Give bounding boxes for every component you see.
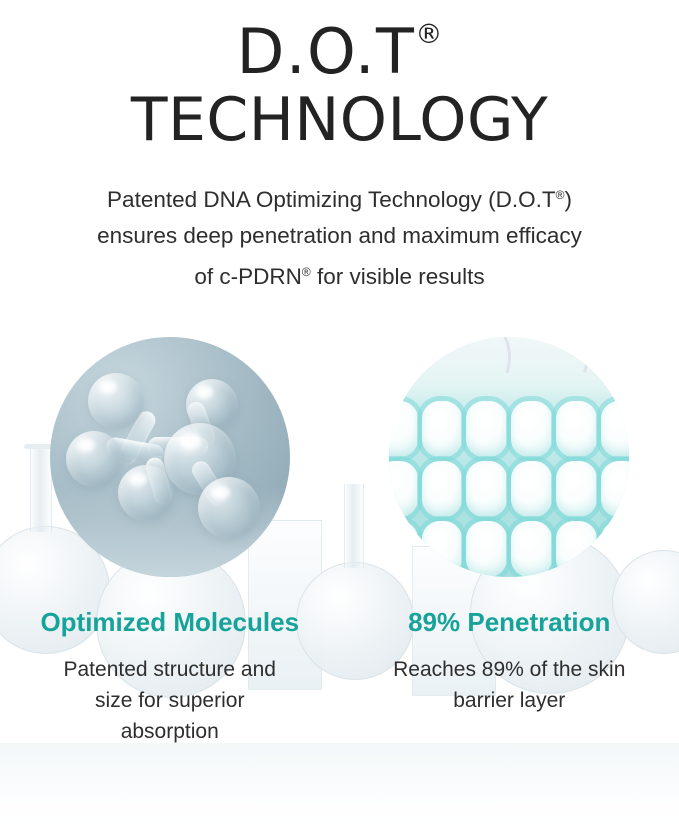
feature-title-optimized-molecules: Optimized Molecules	[40, 607, 299, 637]
intro-line-3: of c-PDRN® for visible results	[42, 254, 637, 295]
cell	[556, 521, 597, 577]
cell	[422, 401, 463, 457]
cell	[422, 461, 463, 517]
cell	[556, 461, 597, 517]
penetration-image	[389, 337, 629, 577]
page-title-line-2: TECHNOLOGY	[0, 85, 679, 155]
cell	[389, 401, 417, 457]
molecule-atom	[66, 431, 122, 487]
cell	[466, 401, 507, 457]
page-title-line-1: D.O.T®	[0, 2, 679, 85]
feature-description-optimized-molecules: Patented structure and size for superior…	[45, 654, 295, 747]
cell	[556, 401, 597, 457]
intro-line-1-text-a: Patented DNA Optimizing Technology (D.O.…	[107, 187, 556, 212]
feature-description-penetration: Reaches 89% of the skin barrier layer	[384, 654, 634, 716]
optimized-molecules-image	[50, 337, 290, 577]
cell	[389, 521, 417, 577]
cell	[601, 461, 629, 517]
registered-trademark-icon: ®	[415, 19, 442, 50]
intro-line-3-text-b: for visible results	[311, 264, 485, 289]
registered-trademark-icon: ®	[302, 265, 311, 279]
cell	[389, 461, 417, 517]
feature-columns: Optimized Molecules Patented structure a…	[0, 337, 679, 747]
cell	[511, 461, 552, 517]
bench-reflection	[0, 743, 679, 835]
intro-line-1: Patented DNA Optimizing Technology (D.O.…	[42, 177, 637, 218]
intro-paragraph: Patented DNA Optimizing Technology (D.O.…	[0, 177, 679, 295]
molecule-atom	[118, 465, 174, 521]
molecule-atom	[88, 373, 144, 429]
cell	[511, 401, 552, 457]
intro-line-3-text-a: of c-PDRN	[194, 264, 302, 289]
cell	[466, 461, 507, 517]
feature-title-penetration: 89% Penetration	[408, 607, 610, 637]
cell	[601, 521, 629, 577]
page-title-text: D.O.T	[237, 15, 416, 88]
cell	[601, 401, 629, 457]
cell	[422, 521, 463, 577]
intro-line-1-text-b: )	[564, 187, 572, 212]
molecule-atom	[198, 477, 260, 539]
cell-grid	[389, 399, 629, 577]
feature-optimized-molecules: Optimized Molecules Patented structure a…	[0, 337, 340, 747]
page-header: D.O.T® TECHNOLOGY	[0, 0, 679, 155]
cell	[511, 521, 552, 577]
feature-penetration: 89% Penetration Reaches 89% of the skin …	[340, 337, 679, 747]
cell	[466, 521, 507, 577]
intro-line-2: ensures deep penetration and maximum eff…	[42, 218, 637, 254]
